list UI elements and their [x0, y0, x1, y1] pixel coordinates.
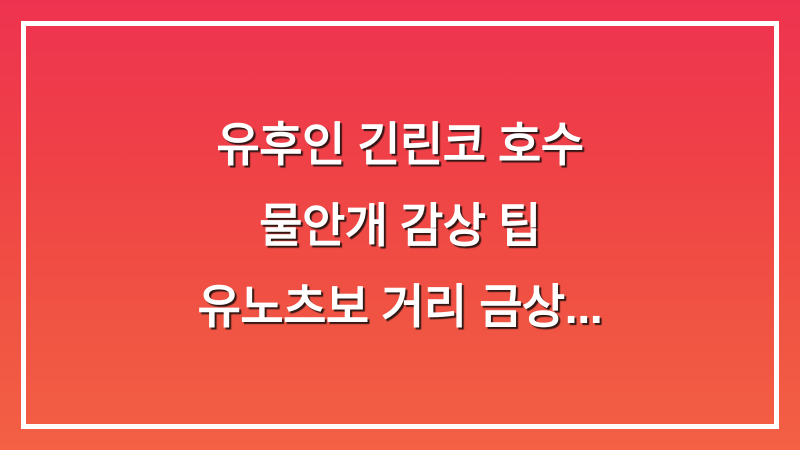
thumbnail-card: 유후인 긴린코 호수 물안개 감상 팁 유노츠보 거리 금상...: [0, 0, 800, 450]
title-line-3: 유노츠보 거리 금상...: [0, 266, 800, 347]
title-block: 유후인 긴린코 호수 물안개 감상 팁 유노츠보 거리 금상...: [0, 0, 800, 450]
title-line-1: 유후인 긴린코 호수: [0, 104, 800, 185]
title-line-2: 물안개 감상 팁: [0, 185, 800, 266]
